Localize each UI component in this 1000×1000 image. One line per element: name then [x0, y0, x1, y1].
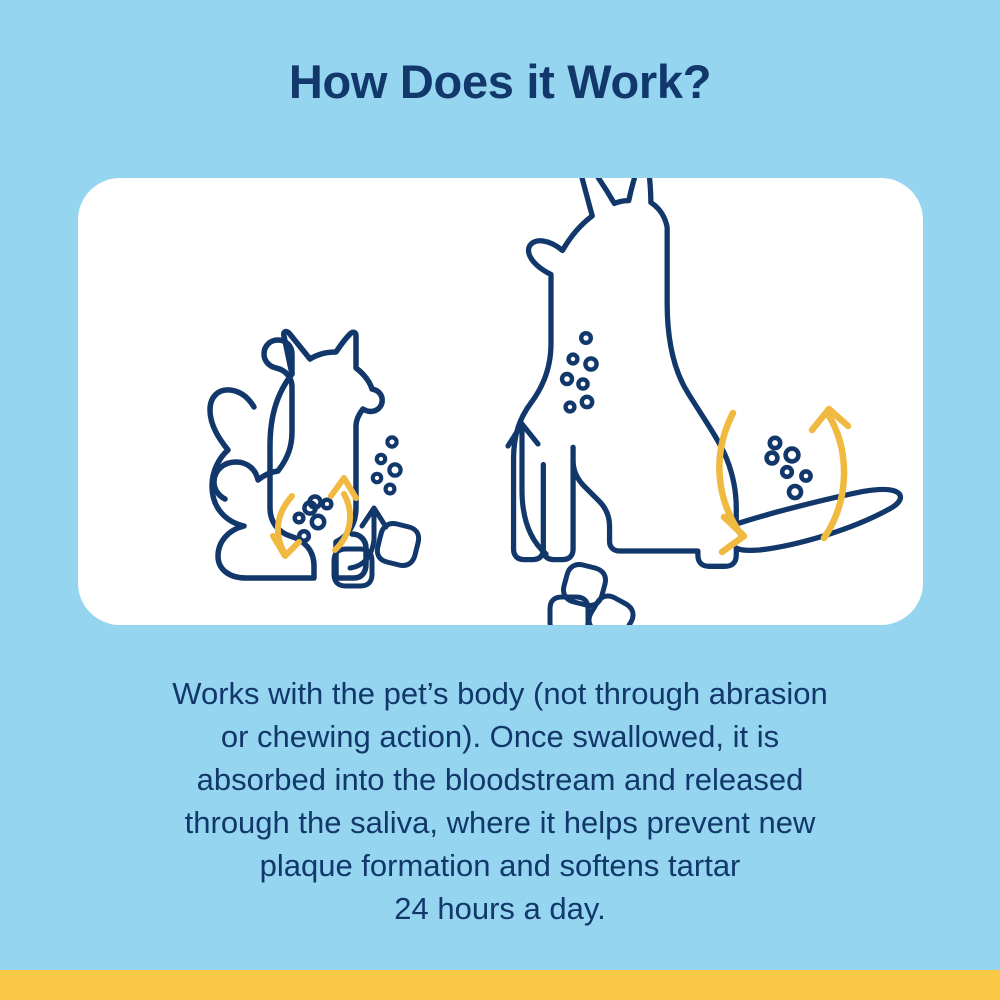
bottom-accent-bar: [0, 970, 1000, 1000]
body-line-4: through the saliva, where it helps preve…: [80, 801, 920, 844]
cat-rising-particles: [373, 437, 401, 493]
body-line-2: or chewing action). Once swallowed, it i…: [80, 715, 920, 758]
pet-absorption-illustration: [78, 178, 923, 625]
body-copy: Works with the pet’s body (not through a…: [80, 672, 920, 930]
body-line-6: 24 hours a day.: [80, 887, 920, 930]
dog-figure-outline: [514, 178, 901, 566]
dog-circulation-arrows: [719, 409, 848, 552]
illustration-card: [78, 178, 923, 625]
infographic-root: How Does it Work?: [0, 0, 1000, 1000]
dog-outline: [214, 340, 292, 499]
page-title: How Does it Work?: [0, 56, 1000, 108]
body-line-3: absorbed into the bloodstream and releas…: [80, 758, 920, 801]
body-line-1: Works with the pet’s body (not through a…: [80, 672, 920, 715]
dog-internal-particles: [767, 438, 811, 498]
dog-rising-particles: [562, 333, 597, 411]
cat-particles-body: [295, 500, 332, 541]
dog-treats: [550, 564, 633, 625]
body-line-5: plaque formation and softens tartar: [80, 844, 920, 887]
